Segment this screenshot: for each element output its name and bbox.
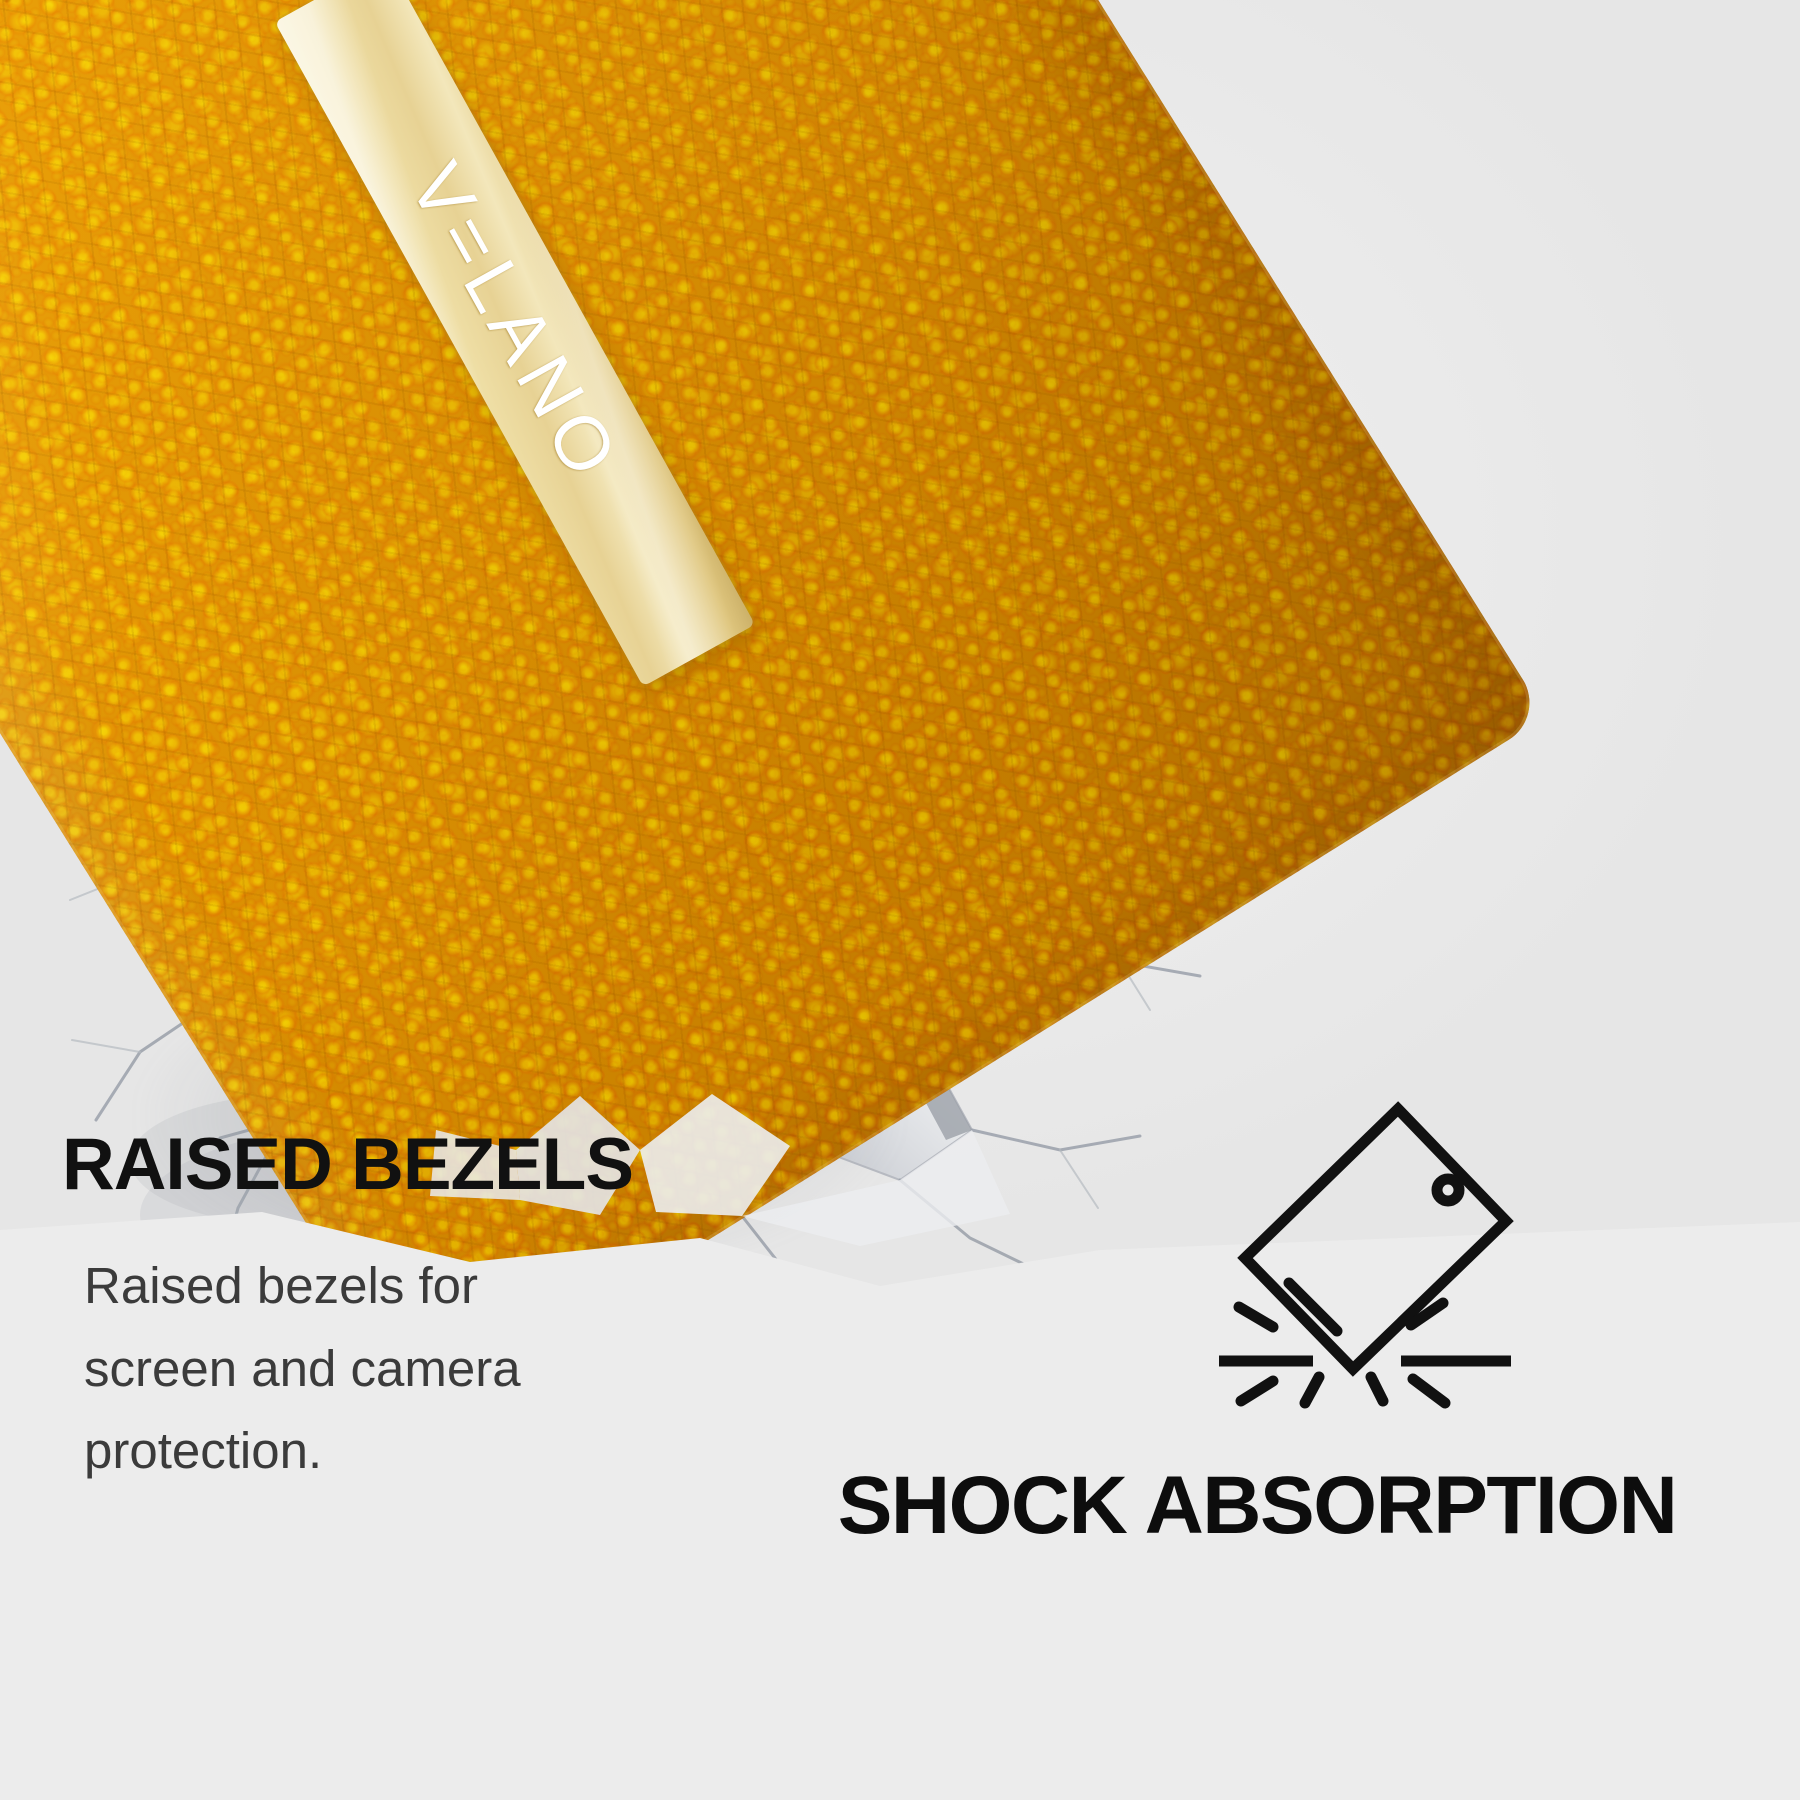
product-feature-banner: V=LANO RAISED BEZELS Raised bezels for s… [0, 0, 1800, 1800]
feature-raised-bezels: RAISED BEZELS Raised bezels for screen a… [62, 1128, 682, 1493]
feature-shock-absorption: SHOCK ABSORPTION [752, 1465, 1762, 1547]
raised-bezels-body: Raised bezels for screen and camera prot… [84, 1245, 554, 1493]
shock-absorption-heading: SHOCK ABSORPTION [752, 1465, 1762, 1547]
camera-dot-icon [1437, 1179, 1459, 1201]
raised-bezels-heading: RAISED BEZELS [62, 1128, 682, 1201]
falling-phone-impact-icon [1215, 1095, 1545, 1425]
